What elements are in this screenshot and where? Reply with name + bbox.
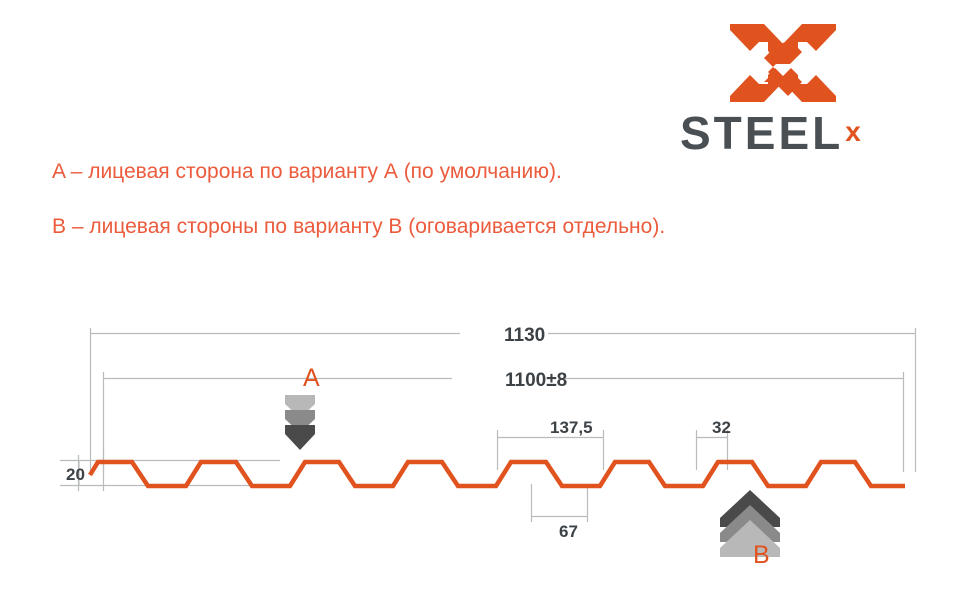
dim-label-1130: 1130 [504,325,545,346]
dim-label-32: 32 [712,418,731,437]
brand-wordmark: STEELx [680,106,910,156]
caption-variant-b: B – лицевая стороны по варианту B (огова… [52,215,665,239]
dim-label-137-5: 137,5 [550,418,593,437]
steelx-x-mark-icon [728,18,838,108]
dim-label-1100: 1100±8 [505,370,567,391]
side-b-chevron-up-icon [720,490,780,557]
extension-lines [60,328,916,522]
dim-label-20: 20 [66,465,85,484]
dimension-lines [79,334,916,517]
dim-label-67: 67 [559,522,578,541]
side-a-letter: A [303,364,320,392]
drawing-page: STEELx A – лицевая сторона по варианту А… [0,0,970,597]
wordmark-steel: STEEL [680,110,843,156]
side-a-chevron-down-icon [285,395,315,450]
side-b-marker: B [720,490,780,569]
wordmark-superscript-x: x [845,118,861,146]
brand-logo: STEELx [680,14,930,154]
profile-cross-section-drawing: 1130 1100±8 137,5 67 32 20 A [0,300,970,597]
side-a-marker: A [285,364,320,450]
side-b-letter: B [753,541,770,569]
caption-variant-a: A – лицевая сторона по варианту А (по ум… [52,160,562,184]
